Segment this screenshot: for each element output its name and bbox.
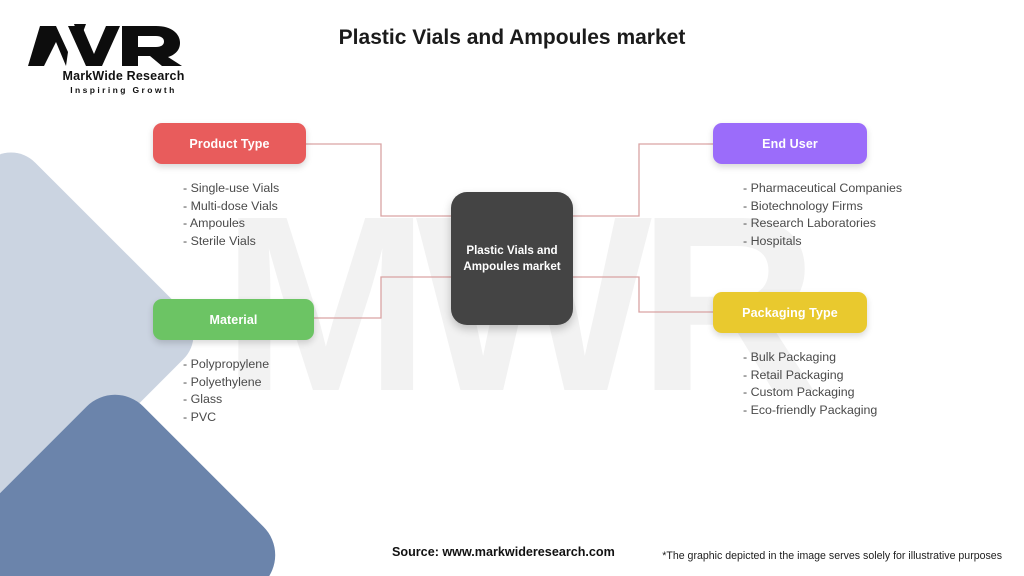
node-packaging-type[interactable]: Packaging Type - Bulk Packaging - Retail… (713, 292, 867, 420)
list-item: - Hospitals (743, 233, 867, 251)
connector-material (314, 277, 452, 318)
list-item: - Sterile Vials (183, 233, 306, 251)
footer-disclaimer: *The graphic depicted in the image serve… (662, 550, 1002, 562)
node-material-box[interactable]: Material (153, 299, 314, 340)
node-packaging-type-list: - Bulk Packaging - Retail Packaging - Cu… (713, 349, 867, 420)
node-packaging-type-title: Packaging Type (742, 306, 838, 320)
node-end-user-box[interactable]: End User (713, 123, 867, 164)
list-item: - PVC (183, 409, 314, 427)
connector-packaging-type (572, 277, 713, 312)
connector-end-user (572, 144, 713, 216)
node-packaging-type-box[interactable]: Packaging Type (713, 292, 867, 333)
list-item: - Single-use Vials (183, 180, 306, 198)
list-item: - Pharmaceutical Companies (743, 180, 867, 198)
node-product-type[interactable]: Product Type - Single-use Vials - Multi-… (153, 123, 306, 251)
list-item: - Polypropylene (183, 356, 314, 374)
connector-product-type (306, 144, 452, 216)
list-item: - Eco-friendly Packaging (743, 402, 867, 420)
center-node: Plastic Vials and Ampoules market (451, 192, 573, 325)
node-product-type-title: Product Type (189, 137, 269, 151)
center-node-label: Plastic Vials and Ampoules market (451, 243, 573, 275)
node-end-user-title: End User (762, 137, 818, 151)
node-material[interactable]: Material - Polypropylene - Polyethylene … (153, 299, 314, 427)
list-item: - Bulk Packaging (743, 349, 867, 367)
diagram-canvas: MWR MarkWide Research Inspiring Growth P… (0, 0, 1024, 576)
footer-source: Source: www.markwideresearch.com (392, 545, 615, 559)
list-item: - Ampoules (183, 215, 306, 233)
list-item: - Glass (183, 391, 314, 409)
node-material-title: Material (209, 313, 257, 327)
node-product-type-list: - Single-use Vials - Multi-dose Vials - … (153, 180, 306, 251)
list-item: - Custom Packaging (743, 384, 867, 402)
node-end-user[interactable]: End User - Pharmaceutical Companies - Bi… (713, 123, 867, 251)
list-item: - Biotechnology Firms (743, 198, 867, 216)
list-item: - Polyethylene (183, 374, 314, 392)
list-item: - Multi-dose Vials (183, 198, 306, 216)
node-material-list: - Polypropylene - Polyethylene - Glass -… (153, 356, 314, 427)
node-product-type-box[interactable]: Product Type (153, 123, 306, 164)
node-end-user-list: - Pharmaceutical Companies - Biotechnolo… (713, 180, 867, 251)
list-item: - Retail Packaging (743, 367, 867, 385)
list-item: - Research Laboratories (743, 215, 867, 233)
